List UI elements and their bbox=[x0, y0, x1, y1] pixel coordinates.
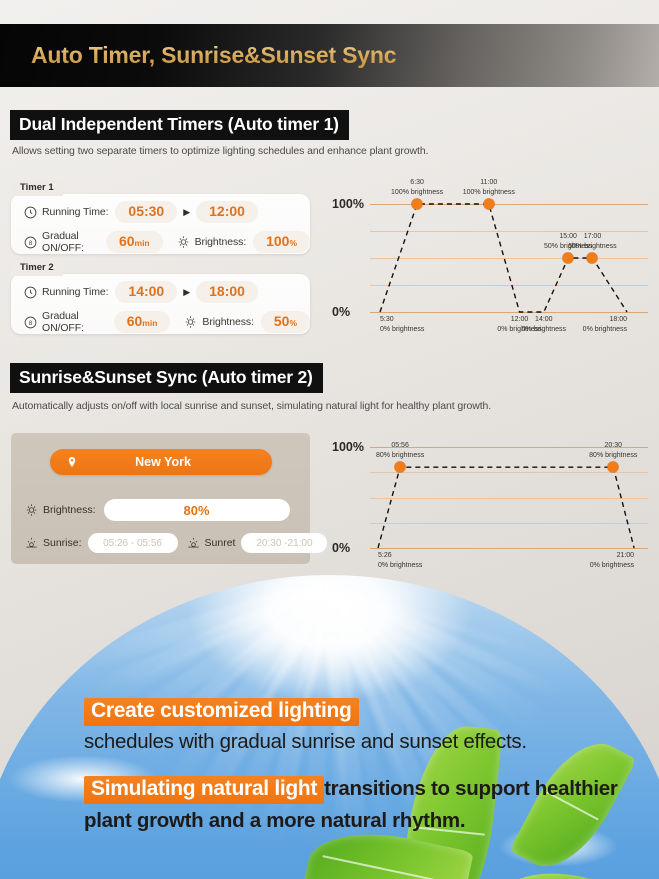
brightness-icon bbox=[177, 236, 190, 249]
section-1-heading: Dual Independent Timers (Auto timer 1) bbox=[11, 111, 348, 139]
hero-highlight-2: Simulating natural light bbox=[84, 776, 324, 804]
timer-1-brightness-label: Brightness: bbox=[195, 236, 246, 248]
sunrise-sync-panel: New York Brightness: 80% Sunrise: 0 bbox=[11, 433, 310, 564]
timer-2-gradual-label: Gradual ON/OFF: bbox=[42, 310, 107, 334]
chart-point-annotation: 20:3080% brightness bbox=[589, 441, 637, 461]
timer-2-brightness-unit: % bbox=[289, 318, 297, 328]
gradual-dimming-icon: 8 bbox=[24, 236, 37, 249]
timer-card-2: Timer 2 Running Time: 14:00 ▶ 18:00 8 Gr… bbox=[11, 274, 310, 334]
chart-data-point bbox=[587, 253, 598, 264]
annotation-time: 5:30 bbox=[380, 316, 394, 323]
hero-highlight-1: Create customized lighting bbox=[84, 698, 359, 726]
chart-point-annotation: 5:260% brightness bbox=[378, 551, 422, 571]
timer-1-brightness-number: 100 bbox=[266, 233, 289, 249]
timer-2-gradual-value[interactable]: 60min bbox=[114, 311, 171, 332]
section-1-subtitle: Allows setting two separate timers to op… bbox=[12, 145, 428, 157]
timer-2-running-row: Running Time: 14:00 ▶ 18:00 bbox=[11, 277, 310, 307]
chart-point-annotation: 05:5680% brightness bbox=[376, 441, 424, 461]
annotation-brightness: 0% brightness bbox=[583, 326, 627, 333]
svg-text:8: 8 bbox=[29, 240, 33, 246]
annotation-time: 5:26 bbox=[378, 552, 392, 559]
sunset-icon bbox=[187, 537, 200, 550]
annotation-time: 18:00 bbox=[610, 316, 628, 323]
chart-data-point bbox=[483, 199, 494, 210]
chart-data-point bbox=[608, 462, 619, 473]
timer-1-start-time[interactable]: 05:30 bbox=[115, 201, 177, 222]
annotation-brightness: 80% brightness bbox=[376, 452, 424, 459]
chart-point-annotation: 17:0050% brightness bbox=[568, 232, 616, 252]
timer-1-gradual-label: Gradual ON/OFF: bbox=[42, 230, 99, 254]
sky-illustration bbox=[0, 575, 659, 879]
sunrise-schedule-chart: 100%0%5:260% brightness05:5680% brightne… bbox=[332, 425, 654, 580]
play-arrow-icon: ▶ bbox=[183, 207, 190, 218]
chart-data-point bbox=[563, 253, 574, 264]
timer-schedule-chart: 100%0%5:300% brightness6:30100% brightne… bbox=[332, 178, 654, 348]
hero-line-2: schedules with gradual sunrise and sunse… bbox=[84, 730, 527, 754]
chart-point-annotation: 11:00100% brightness bbox=[463, 178, 515, 198]
page-root: Auto Timer, Sunrise&Sunset Sync Dual Ind… bbox=[0, 0, 659, 879]
hero-plain-1: schedules with gradual sunrise and sunse… bbox=[84, 730, 527, 753]
section-2-heading: Sunrise&Sunset Sync (Auto timer 2) bbox=[11, 364, 322, 392]
timer-2-start-time[interactable]: 14:00 bbox=[115, 281, 177, 302]
leaf-vein bbox=[322, 856, 454, 879]
timer-2-tab: Timer 2 bbox=[11, 260, 63, 276]
timer-card-1: Timer 1 Running Time: 05:30 ▶ 12:00 8 Gr… bbox=[11, 194, 310, 254]
chart-point-annotation: 14:000% brightness bbox=[522, 315, 566, 335]
hero-plain-3: plant growth and a more natural rhythm. bbox=[84, 809, 465, 832]
annotation-time: 6:30 bbox=[410, 179, 424, 186]
chart-data-point bbox=[395, 462, 406, 473]
timer-1-gradual-value[interactable]: 60min bbox=[106, 231, 163, 252]
city-name-label: New York bbox=[78, 455, 248, 469]
timer-2-end-time[interactable]: 18:00 bbox=[196, 281, 258, 302]
panel-sunset-label: Sunret bbox=[205, 537, 236, 549]
clock-icon bbox=[24, 286, 37, 299]
timer-1-brightness-unit: % bbox=[289, 238, 297, 248]
timer-2-gradual-unit: min bbox=[142, 318, 157, 328]
timer-2-running-label: Running Time: bbox=[42, 286, 108, 298]
location-pin-icon bbox=[66, 455, 78, 469]
timer-1-gradual-number: 60 bbox=[119, 233, 135, 249]
annotation-brightness: 50% brightness bbox=[568, 243, 616, 250]
page-title: Auto Timer, Sunrise&Sunset Sync bbox=[31, 42, 396, 69]
timer-2-brightness-number: 50 bbox=[274, 313, 290, 329]
hero-plain-2: transitions to support healthier bbox=[324, 777, 617, 801]
hero-line-3: Simulating natural light transitions to … bbox=[84, 776, 618, 804]
timer-1-end-time[interactable]: 12:00 bbox=[196, 201, 258, 222]
gradual-dimming-icon: 8 bbox=[24, 316, 37, 329]
timer-1-gradual-unit: min bbox=[135, 238, 150, 248]
annotation-time: 17:00 bbox=[584, 233, 602, 240]
panel-brightness-value[interactable]: 80% bbox=[104, 499, 290, 521]
panel-sunset-value[interactable]: 20:30 -21:00 bbox=[241, 533, 327, 553]
city-selector-button[interactable]: New York bbox=[50, 449, 272, 475]
annotation-time: 20:30 bbox=[605, 442, 623, 449]
header-banner: Auto Timer, Sunrise&Sunset Sync bbox=[0, 24, 659, 87]
annotation-brightness: 0% brightness bbox=[378, 562, 422, 569]
brightness-icon bbox=[184, 316, 197, 329]
annotation-brightness: 0% brightness bbox=[590, 562, 634, 569]
panel-sunrise-label: Sunrise: bbox=[43, 537, 82, 549]
annotation-time: 14:00 bbox=[535, 316, 553, 323]
annotation-brightness: 0% brightness bbox=[380, 326, 424, 333]
timer-2-gradual-number: 60 bbox=[127, 313, 143, 329]
chart-point-annotation: 21:000% brightness bbox=[590, 551, 634, 571]
annotation-brightness: 0% brightness bbox=[522, 326, 566, 333]
annotation-time: 11:00 bbox=[480, 179, 497, 186]
timer-2-brightness-label: Brightness: bbox=[202, 316, 253, 328]
annotation-brightness: 80% brightness bbox=[589, 452, 637, 459]
chart-point-annotation: 6:30100% brightness bbox=[391, 178, 443, 198]
panel-sunrise-value[interactable]: 05:26 - 05:56 bbox=[88, 533, 178, 553]
timer-1-tab: Timer 1 bbox=[11, 180, 63, 196]
chart-point-annotation: 18:000% brightness bbox=[583, 315, 627, 335]
timer-1-gradual-row: 8 Gradual ON/OFF: 60min Brightness: 100% bbox=[11, 227, 310, 257]
clock-icon bbox=[24, 206, 37, 219]
brightness-icon bbox=[25, 504, 38, 517]
hero-line-1: Create customized lighting bbox=[84, 698, 359, 726]
timer-2-gradual-row: 8 Gradual ON/OFF: 60min Brightness: 50% bbox=[11, 307, 310, 337]
chart-point-annotation: 5:300% brightness bbox=[380, 315, 424, 335]
annotation-time: 05:56 bbox=[391, 442, 409, 449]
annotation-brightness: 100% brightness bbox=[463, 189, 515, 196]
hero-line-4: plant growth and a more natural rhythm. bbox=[84, 809, 465, 833]
section-2-subtitle: Automatically adjusts on/off with local … bbox=[12, 400, 491, 412]
svg-text:8: 8 bbox=[29, 320, 33, 326]
timer-1-running-label: Running Time: bbox=[42, 206, 108, 218]
sunrise-icon bbox=[25, 537, 38, 550]
chart-data-point bbox=[412, 199, 423, 210]
panel-brightness-label: Brightness: bbox=[43, 504, 96, 516]
panel-brightness-row: Brightness: 80% bbox=[25, 499, 297, 521]
annotation-brightness: 100% brightness bbox=[391, 189, 443, 196]
timer-1-brightness-value[interactable]: 100% bbox=[253, 231, 310, 252]
panel-sunrise-row: Sunrise: 05:26 - 05:56 Sunret 20:30 -21:… bbox=[25, 533, 327, 553]
play-arrow-icon: ▶ bbox=[183, 287, 190, 298]
annotation-time: 21:00 bbox=[617, 552, 635, 559]
hero-section: Create customized lighting schedules wit… bbox=[0, 575, 659, 879]
timer-2-brightness-value[interactable]: 50% bbox=[261, 311, 310, 332]
timer-1-running-row: Running Time: 05:30 ▶ 12:00 bbox=[11, 197, 310, 227]
